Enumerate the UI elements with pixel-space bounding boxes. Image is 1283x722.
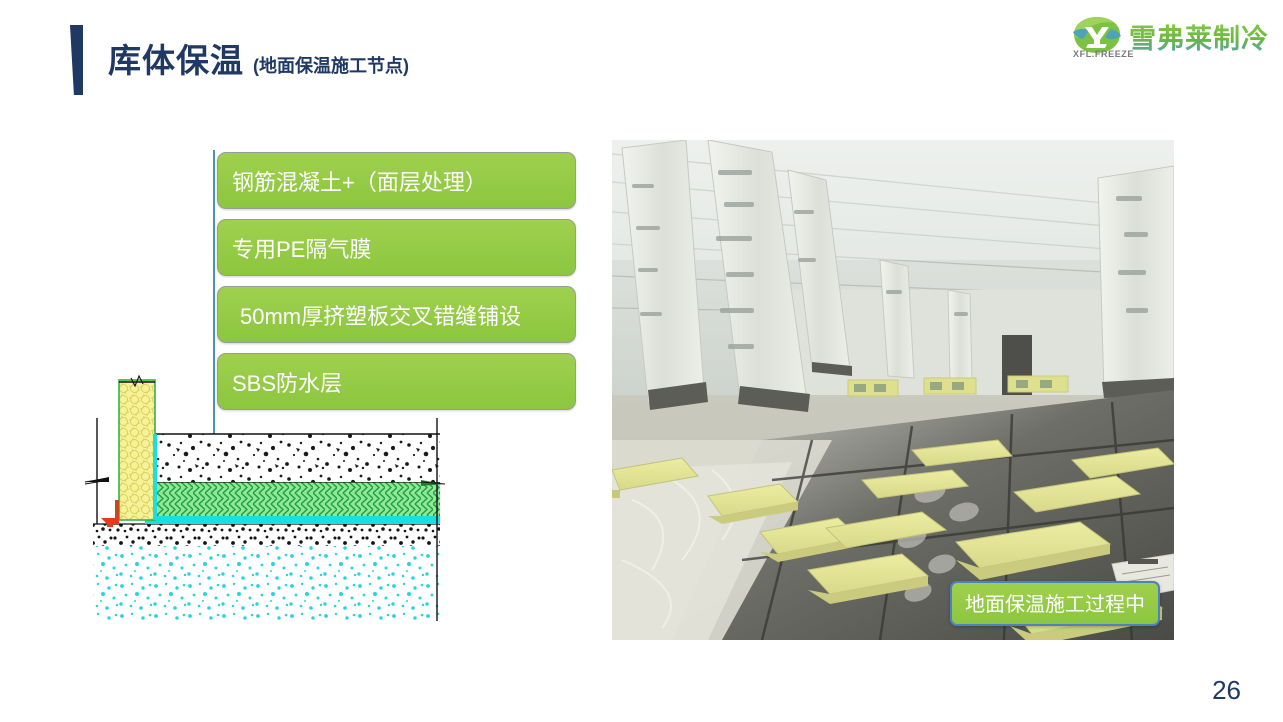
page-title-main: 库体保温 [108, 34, 244, 82]
layer-label-pe-film[interactable]: 专用PE隔气膜 [217, 219, 576, 276]
logo-chinese-text: 雪弗莱制冷 [1129, 17, 1269, 56]
xfl-leaf-logo-icon: XFL.FREEZE [1071, 15, 1123, 57]
layer-label-concrete[interactable]: 钢筋混凝土+（面层处理） [217, 152, 576, 209]
layer-label-text: 50mm厚挤塑板交叉错缝铺设 [240, 299, 521, 331]
page-title: 库体保温 (地面保温施工节点) [108, 34, 409, 82]
layer-label-text: 钢筋混凝土+（面层处理） [232, 165, 487, 197]
page-title-subtitle: (地面保温施工节点) [253, 52, 409, 78]
layer-label-text: 专用PE隔气膜 [232, 232, 371, 264]
layer-label-xps-board[interactable]: 50mm厚挤塑板交叉错缝铺设 [217, 286, 576, 343]
floor-insulation-section-detail [85, 372, 445, 624]
photo-caption-text: 地面保温施工过程中 [965, 594, 1145, 616]
logo-english-text: XFL.FREEZE [1073, 49, 1134, 59]
page-number: 26 [1212, 675, 1241, 706]
photo-caption: 地面保温施工过程中 [950, 581, 1160, 626]
slide-root: 库体保温 (地面保温施工节点) XFL.FREEZE 雪弗莱制冷 钢筋混凝土+（… [0, 0, 1283, 722]
warehouse-floor-insulation-photo: 地面保温施工过程中 [612, 140, 1174, 640]
brand-logo: XFL.FREEZE 雪弗莱制冷 [1071, 13, 1269, 59]
title-accent-bar [70, 25, 83, 95]
